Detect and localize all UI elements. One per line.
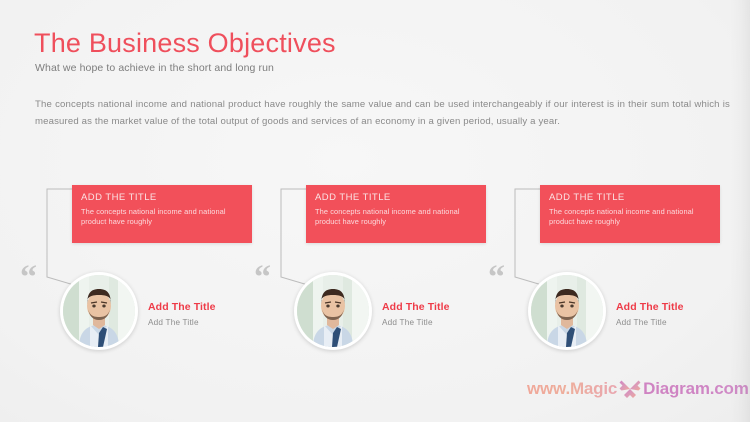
quote-mark-icon: “ [488, 261, 505, 295]
avatar[interactable] [60, 272, 138, 350]
card-title: ADD THE TITLE [315, 192, 391, 203]
objective-card-3[interactable]: ADD THE TITLE The concepts national inco… [540, 185, 720, 243]
person-role: Add The Title [616, 318, 667, 327]
person-role: Add The Title [148, 318, 199, 327]
card-title: ADD THE TITLE [549, 192, 625, 203]
objective-column-3: “ ADD THE TITLE The concepts national in… [474, 0, 724, 422]
quote-mark-icon: “ [20, 261, 37, 295]
site-logo[interactable]: www.Magic Diagram.com [527, 377, 749, 401]
person-name: Add The Title [616, 301, 684, 313]
objective-column-2: “ ADD THE TITLE The concepts national in… [240, 0, 490, 422]
logo-text-diagram: Diagram.com [643, 379, 749, 399]
person-role: Add The Title [382, 318, 433, 327]
card-title: ADD THE TITLE [81, 192, 157, 203]
slide-canvas: The Business Objectives What we hope to … [0, 0, 750, 422]
logo-text-magic: www.Magic [527, 379, 617, 399]
person-name: Add The Title [148, 301, 216, 313]
person-name: Add The Title [382, 301, 450, 313]
objective-card-2[interactable]: ADD THE TITLE The concepts national inco… [306, 185, 486, 243]
card-body: The concepts national income and nationa… [315, 207, 478, 226]
avatar-image [63, 275, 135, 347]
magic-diagram-butterfly-icon [618, 378, 642, 400]
avatar[interactable] [528, 272, 606, 350]
avatar[interactable] [294, 272, 372, 350]
card-body: The concepts national income and nationa… [549, 207, 712, 226]
avatar-image [531, 275, 603, 347]
objective-card-1[interactable]: ADD THE TITLE The concepts national inco… [72, 185, 252, 243]
objective-column-1: “ ADD THE TITLE The concepts national in… [6, 0, 256, 422]
card-body: The concepts national income and nationa… [81, 207, 244, 226]
avatar-image [297, 275, 369, 347]
quote-mark-icon: “ [254, 261, 271, 295]
